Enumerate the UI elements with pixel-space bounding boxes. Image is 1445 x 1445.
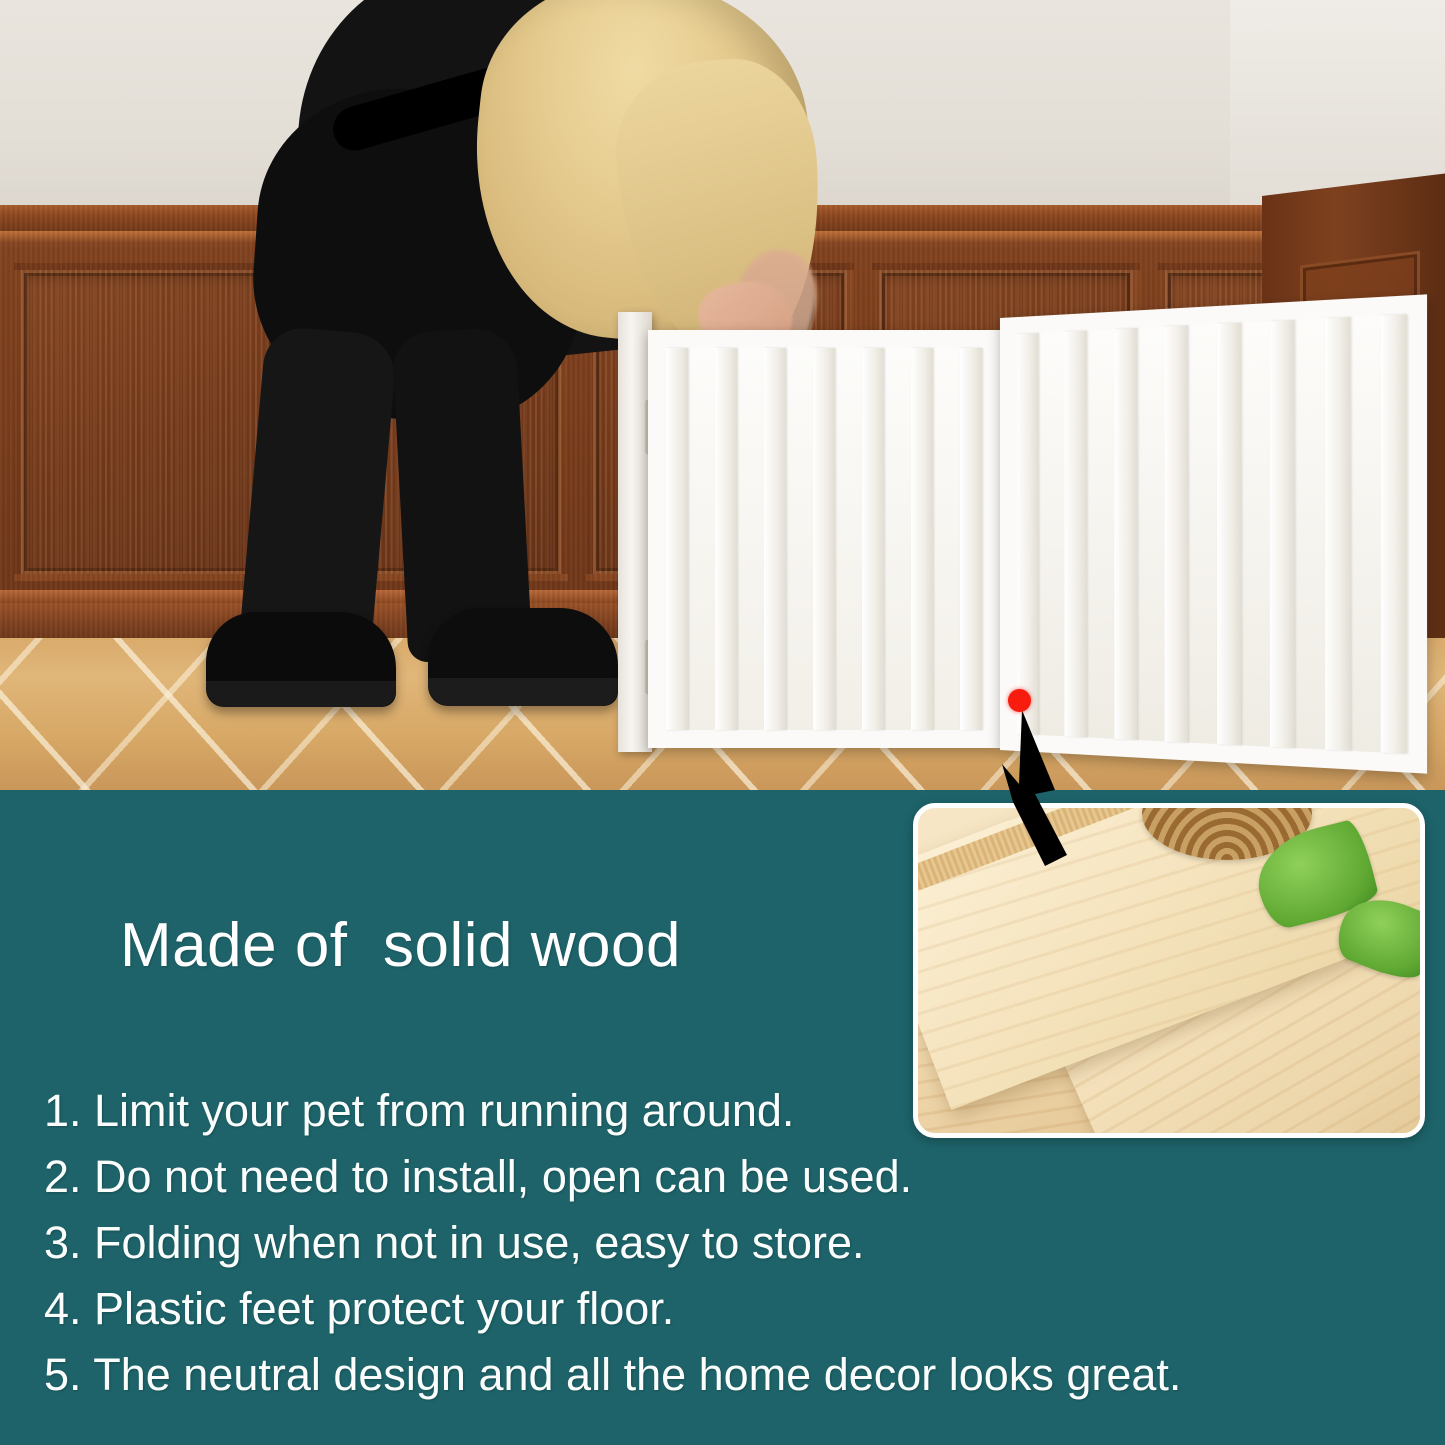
boot-left bbox=[206, 612, 396, 707]
gate-slat bbox=[911, 348, 933, 730]
boot-sole bbox=[428, 678, 618, 706]
gate-slat bbox=[862, 348, 884, 730]
gate-panel-front bbox=[648, 330, 1000, 748]
list-item: 3. Folding when not in use, easy to stor… bbox=[44, 1210, 1334, 1276]
gate-slat bbox=[1065, 331, 1087, 738]
gate-slat bbox=[1270, 320, 1295, 748]
gate-slat bbox=[1325, 317, 1350, 751]
gate-slat bbox=[764, 348, 786, 730]
gate-slat bbox=[1217, 323, 1241, 746]
list-item: 2. Do not need to install, open can be u… bbox=[44, 1144, 1334, 1210]
gate-slat bbox=[1381, 314, 1407, 754]
gate-slat bbox=[960, 348, 982, 730]
boot-sole bbox=[206, 681, 396, 707]
plastic-foot-marker-dot bbox=[1008, 689, 1031, 712]
gate-slat bbox=[1017, 333, 1039, 735]
list-item: 5. The neutral design and all the home d… bbox=[44, 1342, 1334, 1408]
gate-slats bbox=[666, 348, 982, 730]
gate-slat bbox=[666, 348, 688, 730]
gate-slat bbox=[1165, 325, 1188, 742]
wainscot-panel bbox=[14, 263, 282, 581]
boot-right bbox=[428, 608, 618, 706]
gate-slat bbox=[813, 348, 835, 730]
gate-slat bbox=[715, 348, 737, 730]
lifestyle-photo bbox=[0, 0, 1445, 790]
gate-slat bbox=[1114, 328, 1137, 740]
product-infographic: Made of solid wood 1. Limit your pet fro… bbox=[0, 0, 1445, 1445]
page-title: Made of solid wood bbox=[120, 910, 681, 981]
gate-slats bbox=[1017, 314, 1407, 754]
pointer-arrow-icon bbox=[985, 698, 1105, 868]
list-item: 4. Plastic feet protect your floor. bbox=[44, 1276, 1334, 1342]
